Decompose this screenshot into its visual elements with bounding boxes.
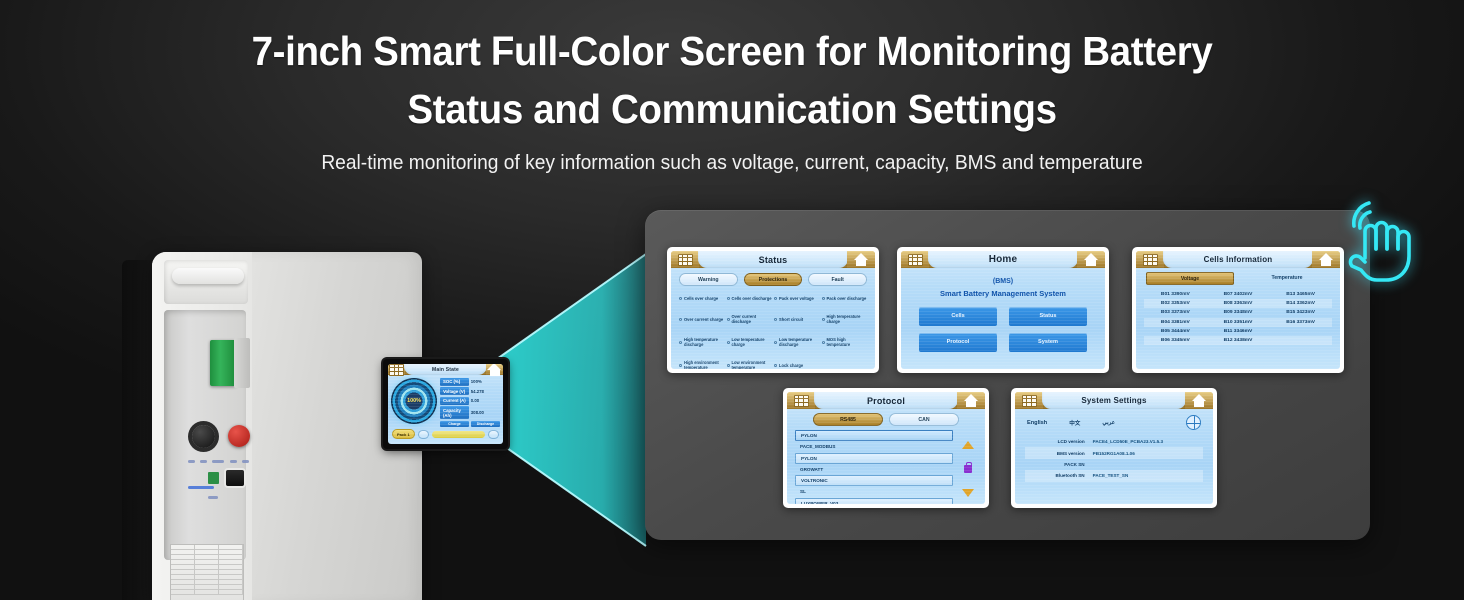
stat-row: Capacity (Ah) 308.00 xyxy=(440,406,500,419)
home-icon xyxy=(1192,394,1207,407)
stat-row: Current (A) 0.00 xyxy=(440,397,500,405)
home-heading-line2: Smart Battery Management System xyxy=(901,288,1105,299)
status-item[interactable]: High environment temperature xyxy=(679,360,727,369)
grid-icon xyxy=(908,254,923,266)
status-indicator xyxy=(822,318,825,321)
cell-value: B12 3438mV xyxy=(1207,336,1270,345)
battery-cabinet: Main State 100% SOC (%) 100% xyxy=(122,252,422,600)
cell-value: B10 3351mV xyxy=(1207,318,1270,327)
status-item[interactable]: High temperature charge xyxy=(822,314,870,324)
system-row: BMS version PB152RG1A08.1.06 xyxy=(1025,447,1203,458)
status-item-label: Cells over charge xyxy=(684,296,718,301)
tab-voltage[interactable]: Voltage xyxy=(1146,272,1234,285)
device-lcd-screen[interactable]: Main State 100% SOC (%) 100% xyxy=(383,359,508,449)
system-row-label: LCD version xyxy=(1025,439,1093,444)
home-heading: (BMS) Smart Battery Management System xyxy=(901,268,1105,299)
home-button[interactable] xyxy=(847,251,875,268)
grid-icon xyxy=(1022,395,1037,407)
status-item-label: Low temperature charge xyxy=(732,337,775,347)
status-item-label: Cells over discharge xyxy=(732,296,772,301)
home-titlebar: Home xyxy=(901,251,1105,268)
rj45-port xyxy=(226,470,244,486)
grid-icon xyxy=(678,254,693,266)
status-item[interactable]: Pack over voltage xyxy=(774,296,822,301)
status-indicator xyxy=(774,297,777,300)
system-row: LCD version PACE4_LCD50E_PCBA23.V1.5.3 xyxy=(1025,436,1203,447)
home-heading-line1: (BMS) xyxy=(901,277,1105,288)
system-row: Bluetooth SN PACE_TEST_SN xyxy=(1025,470,1203,481)
cells-titlebar: Cells Information xyxy=(1136,251,1340,268)
arrow-down-icon[interactable] xyxy=(962,489,974,497)
status-item[interactable]: Cells over discharge xyxy=(727,296,775,301)
globe-icon[interactable] xyxy=(1186,415,1201,430)
protocol-screen: Protocol RS485 CAN PYLON PACE_MODBUS PYL… xyxy=(787,392,985,504)
stat-label: Capacity (Ah) xyxy=(440,406,469,419)
cell-value: B14 3362mV xyxy=(1269,299,1332,308)
status-indicator xyxy=(727,318,730,321)
status-item-label: Pack over discharge xyxy=(827,296,867,301)
cell-value: B08 3363mV xyxy=(1207,299,1270,308)
protocol-item-selected[interactable]: PYLON xyxy=(795,430,953,441)
stat-value: 100% xyxy=(471,379,482,384)
status-indicator xyxy=(822,341,825,344)
system-row-value: PACE_TEST_SN xyxy=(1093,473,1203,478)
protocol-item[interactable]: SL xyxy=(795,487,953,496)
protocol-item[interactable]: LUXPOWER_V03 xyxy=(795,498,953,504)
protocol-item[interactable]: PACE_MODBUS xyxy=(795,442,953,451)
protocol-list: PYLON PACE_MODBUS PYLON GROWATT VOLTRONI… xyxy=(795,430,953,504)
discharge-badge: Discharge xyxy=(471,421,500,428)
system-row: PACK SN xyxy=(1025,459,1203,470)
prev-button[interactable] xyxy=(418,430,429,439)
main-state-badges: Charge Discharge xyxy=(440,421,500,428)
status-item[interactable]: Over current charge xyxy=(679,314,727,324)
cell-value: B11 3346mV xyxy=(1207,327,1270,336)
screen-status[interactable]: Status Warning Protections Fault Cells o… xyxy=(667,247,879,373)
status-item-label: Low temperature discharge xyxy=(779,337,822,347)
page-title: 7-inch Smart Full-Color Screen for Monit… xyxy=(44,22,1420,138)
home-title: Home xyxy=(928,251,1078,268)
status-item[interactable]: MOS high temperature xyxy=(822,337,870,347)
status-indicator xyxy=(679,318,682,321)
status-item-label: Short circuit xyxy=(779,317,803,322)
home-button[interactable] xyxy=(957,392,985,409)
stat-label: Voltage (V) xyxy=(440,387,469,395)
charge-badge: Charge xyxy=(440,421,469,428)
menu-button[interactable] xyxy=(388,364,405,375)
cell-value: B16 3373mV xyxy=(1269,318,1332,327)
emergency-stop-button xyxy=(228,425,250,447)
cells-tabs: Voltage Temperature xyxy=(1136,268,1340,287)
tab-warning[interactable]: Warning xyxy=(679,273,738,286)
protocol-item[interactable]: PYLON xyxy=(795,453,953,464)
tab-fault[interactable]: Fault xyxy=(808,273,867,286)
menu-button[interactable] xyxy=(901,251,929,268)
menu-button[interactable] xyxy=(1136,251,1164,268)
cell-value: B15 3423mV xyxy=(1269,308,1332,317)
cells-screen: Cells Information Voltage Temperature B0… xyxy=(1136,251,1340,369)
green-terminal xyxy=(208,472,219,484)
status-item[interactable]: Cells over charge xyxy=(679,296,727,301)
screen-cells[interactable]: Cells Information Voltage Temperature B0… xyxy=(1132,247,1344,373)
page-title-line2: Status and Communication Settings xyxy=(44,80,1420,138)
cell-value: B04 3381mV xyxy=(1144,318,1207,327)
menu-button[interactable] xyxy=(1015,392,1043,409)
status-item-label: High environment temperature xyxy=(684,360,727,369)
home-button-status[interactable]: Status xyxy=(1009,307,1087,326)
protocol-titlebar: Protocol xyxy=(787,392,985,409)
status-item[interactable]: Pack over discharge xyxy=(822,296,870,301)
cell-value: B03 3373mV xyxy=(1144,308,1207,317)
language-option-chinese[interactable]: 中文 xyxy=(1069,419,1080,427)
next-button[interactable] xyxy=(488,430,499,439)
protocol-controls xyxy=(957,430,979,504)
status-item-label: Low environment temperature xyxy=(732,360,775,369)
status-item-label: Over current discharge xyxy=(732,314,775,324)
soc-gauge-value: 100% xyxy=(407,398,421,404)
status-indicator xyxy=(727,364,730,367)
status-item-label: MOS high temperature xyxy=(827,337,870,347)
status-item[interactable]: Over current discharge xyxy=(727,314,775,324)
protocol-item[interactable]: GROWATT xyxy=(795,465,953,474)
cell-value: B06 3345mV xyxy=(1144,336,1207,345)
cabinet-nameplate xyxy=(170,544,244,600)
cabinet-handle xyxy=(164,260,248,304)
status-title: Status xyxy=(698,251,848,268)
status-indicator xyxy=(822,297,825,300)
stat-row: Voltage (V) 54.278 xyxy=(440,387,500,395)
page-title-line1: 7-inch Smart Full-Color Screen for Monit… xyxy=(44,22,1420,80)
stat-row: SOC (%) 100% xyxy=(440,378,500,386)
rotary-knob xyxy=(192,425,215,448)
screen-system[interactable]: System Settings English 中文 عربي LCD vers… xyxy=(1011,388,1217,508)
main-state-stats: SOC (%) 100% Voltage (V) 54.278 Current … xyxy=(440,378,500,427)
status-item-label: High temperature charge xyxy=(827,314,870,324)
screen-home[interactable]: Home (BMS) Smart Battery Management Syst… xyxy=(897,247,1109,373)
status-indicator xyxy=(679,341,682,344)
system-info-rows: LCD version PACE4_LCD50E_PCBA23.V1.5.3 B… xyxy=(1015,432,1213,482)
home-button[interactable] xyxy=(486,364,503,375)
status-item-label: Over current charge xyxy=(684,317,723,322)
protocol-item[interactable]: VOLTRONIC xyxy=(795,475,953,486)
home-button[interactable] xyxy=(1185,392,1213,409)
arrow-up-icon[interactable] xyxy=(962,441,974,449)
stat-label: SOC (%) xyxy=(440,378,469,386)
cell-value: B05 3444mV xyxy=(1144,327,1207,336)
grid-icon xyxy=(389,364,404,376)
status-item[interactable]: Low environment temperature xyxy=(727,360,775,369)
protocol-body: PYLON PACE_MODBUS PYLON GROWATT VOLTRONI… xyxy=(787,428,985,504)
system-row-label: Bluetooth SN xyxy=(1025,473,1093,478)
status-screen: Status Warning Protections Fault Cells o… xyxy=(671,251,875,369)
home-icon xyxy=(1084,253,1099,266)
home-button-system[interactable]: System xyxy=(1009,333,1087,352)
cell-value: B09 3348mV xyxy=(1207,308,1270,317)
tab-protections[interactable]: Protections xyxy=(744,273,803,286)
system-row-label: BMS version xyxy=(1025,451,1093,456)
soc-gauge: 100% xyxy=(391,378,437,424)
status-item-label: Pack over voltage xyxy=(779,296,814,301)
system-screen: System Settings English 中文 عربي LCD vers… xyxy=(1015,392,1213,504)
home-button-cells[interactable]: Cells xyxy=(919,307,997,326)
system-row-value: PB152RG1A08.1.06 xyxy=(1093,451,1203,456)
status-item[interactable]: High temperature discharge xyxy=(679,337,727,347)
cell-value: B13 3465mV xyxy=(1269,290,1332,299)
status-indicator xyxy=(727,297,730,300)
grid-icon xyxy=(794,395,809,407)
status-item-label: Lock charge xyxy=(779,363,803,368)
language-selector: English 中文 عربي xyxy=(1015,409,1213,432)
cell-value xyxy=(1269,327,1332,336)
system-row-value: PACE4_LCD50E_PCBA23.V1.5.3 xyxy=(1093,439,1203,444)
language-option-arabic[interactable]: عربي xyxy=(1102,420,1115,426)
status-indicator xyxy=(679,364,682,367)
status-item[interactable]: Lock charge xyxy=(774,360,822,369)
page-background: 7-inch Smart Full-Color Screen for Monit… xyxy=(0,0,1464,600)
status-indicator xyxy=(774,341,777,344)
home-icon xyxy=(854,253,869,266)
cells-grid: B01 3390mV B07 3402mV B13 3465mV B02 335… xyxy=(1136,287,1340,345)
status-item-label: High temperature discharge xyxy=(684,337,727,347)
home-icon xyxy=(487,364,502,376)
home-screen: Home (BMS) Smart Battery Management Syst… xyxy=(901,251,1105,369)
home-buttons: Cells Status Protocol System xyxy=(901,299,1105,352)
status-item[interactable]: Low temperature discharge xyxy=(774,337,822,347)
pack-pill[interactable]: Pack 1 xyxy=(392,429,415,439)
green-connector xyxy=(210,340,236,386)
tab-temperature[interactable]: Temperature xyxy=(1244,272,1330,285)
menu-button[interactable] xyxy=(787,392,815,409)
lock-icon[interactable] xyxy=(964,465,972,473)
system-titlebar: System Settings xyxy=(1015,392,1213,409)
tab-can[interactable]: CAN xyxy=(889,413,959,426)
cell-value: B02 3353mV xyxy=(1144,299,1207,308)
status-item[interactable]: Short circuit xyxy=(774,314,822,324)
screen-protocol[interactable]: Protocol RS485 CAN PYLON PACE_MODBUS PYL… xyxy=(783,388,989,508)
grid-icon xyxy=(1143,254,1158,266)
tab-rs485[interactable]: RS485 xyxy=(813,413,883,426)
cells-title: Cells Information xyxy=(1163,251,1313,268)
status-indicator xyxy=(727,341,730,344)
cell-value: B01 3390mV xyxy=(1144,290,1207,299)
main-state-screen: Main State 100% SOC (%) 100% xyxy=(388,364,503,444)
home-button[interactable] xyxy=(1077,251,1105,268)
touch-hand-icon xyxy=(1332,198,1428,290)
home-icon xyxy=(964,394,979,407)
cell-value xyxy=(1269,336,1332,345)
main-state-footer: Pack 1 xyxy=(388,427,503,439)
protocol-title: Protocol xyxy=(814,392,958,409)
stat-value: 54.278 xyxy=(471,389,484,394)
stat-value: 0.00 xyxy=(471,398,479,403)
status-items-grid: Cells over charge Cells over discharge P… xyxy=(671,289,875,369)
status-titlebar: Status xyxy=(671,251,875,268)
stat-label: Current (A) xyxy=(440,397,469,405)
home-button-protocol[interactable]: Protocol xyxy=(919,333,997,352)
stat-value: 308.00 xyxy=(471,410,484,415)
status-tabs: Warning Protections Fault xyxy=(671,268,875,289)
status-indicator xyxy=(774,318,777,321)
status-indicator xyxy=(679,297,682,300)
main-state-title: Main State xyxy=(404,364,487,375)
status-indicator xyxy=(774,364,777,367)
language-option-english[interactable]: English xyxy=(1027,420,1047,426)
status-bar xyxy=(432,431,485,438)
system-title: System Settings xyxy=(1042,392,1186,409)
menu-button[interactable] xyxy=(671,251,699,268)
main-state-body: 100% SOC (%) 100% Voltage (V) 54.278 Cur… xyxy=(388,375,503,427)
main-state-titlebar: Main State xyxy=(388,364,503,375)
status-item[interactable]: Low temperature charge xyxy=(727,337,775,347)
system-row-label: PACK SN xyxy=(1025,462,1093,467)
cell-value: B07 3402mV xyxy=(1207,290,1270,299)
protocol-tabs: RS485 CAN xyxy=(787,409,985,428)
page-subtitle: Real-time monitoring of key information … xyxy=(29,152,1434,175)
